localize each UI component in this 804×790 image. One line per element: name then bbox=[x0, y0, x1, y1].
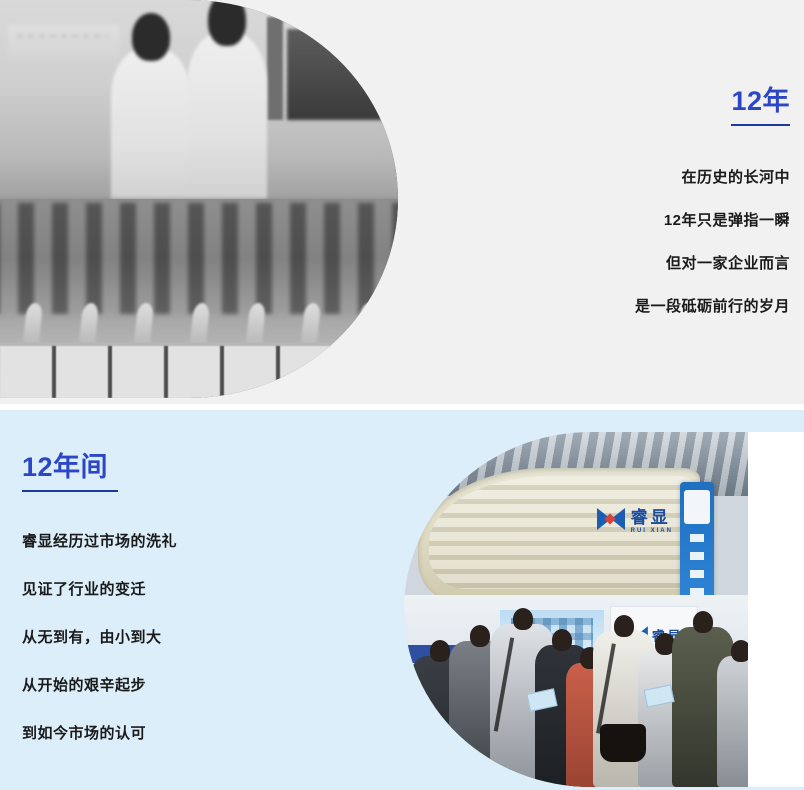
factory-part bbox=[244, 303, 266, 363]
milestones-line: 从无到有，由小到大 bbox=[22, 630, 382, 645]
booth-brand-en: RUI XIAN bbox=[631, 528, 673, 534]
section-milestones: 12年间 睿显经历过市场的洗礼 见证了行业的变迁 从无到有，由小到大 从开始的艰… bbox=[0, 410, 804, 790]
history-line: 12年只是弹指一瞬 bbox=[370, 213, 790, 228]
factory-workers-photo bbox=[0, 0, 398, 398]
worker-head bbox=[208, 0, 246, 46]
history-text-block: 12年 在历史的长河中 12年只是弹指一瞬 但对一家企业而言 是一段砥砺前行的岁… bbox=[370, 86, 790, 314]
history-line: 是一段砥砺前行的岁月 bbox=[370, 299, 790, 314]
factory-poster bbox=[8, 25, 119, 62]
milestones-lines: 睿显经历过市场的洗礼 见证了行业的变迁 从无到有，由小到大 从开始的艰辛起步 到… bbox=[22, 534, 382, 741]
milestones-heading: 12年间 bbox=[22, 452, 118, 492]
booth-logo-primary: 睿显 RUI XIAN bbox=[597, 503, 673, 534]
history-heading: 12年 bbox=[731, 86, 790, 126]
factory-worker bbox=[111, 48, 191, 207]
milestones-line: 睿显经历过市场的洗礼 bbox=[22, 534, 382, 549]
factory-part bbox=[21, 303, 43, 363]
history-line: 但对一家企业而言 bbox=[370, 256, 790, 271]
exhibition-booth-photo: 睿显 RUI XIAN 睿显 bbox=[404, 432, 748, 787]
factory-part bbox=[188, 303, 210, 363]
ruixian-logo-icon bbox=[597, 508, 627, 530]
factory-part bbox=[132, 303, 154, 363]
banner-logo-card bbox=[684, 490, 710, 524]
history-line: 在历史的长河中 bbox=[370, 170, 790, 185]
banner-text-lines bbox=[690, 534, 704, 604]
worker-head bbox=[132, 13, 170, 61]
factory-photo-content bbox=[0, 0, 398, 398]
factory-worker bbox=[187, 32, 267, 207]
booth-brand-block: 睿显 RUI XIAN bbox=[631, 503, 673, 534]
crowd-person bbox=[717, 656, 748, 787]
factory-parts-bins bbox=[0, 199, 398, 398]
milestones-line: 见证了行业的变迁 bbox=[22, 582, 382, 597]
factory-part bbox=[76, 303, 98, 363]
booth-vertical-banner bbox=[680, 482, 714, 612]
milestones-text-block: 12年间 睿显经历过市场的洗礼 见证了行业的变迁 从无到有，由小到大 从开始的艰… bbox=[22, 452, 382, 741]
section-history: 12年 在历史的长河中 12年只是弹指一瞬 但对一家企业而言 是一段砥砺前行的岁… bbox=[0, 0, 804, 404]
factory-pillar bbox=[267, 17, 283, 120]
factory-part bbox=[299, 303, 321, 363]
milestones-line: 到如今市场的认可 bbox=[22, 726, 382, 741]
page-root: 12年 在历史的长河中 12年只是弹指一瞬 但对一家企业而言 是一段砥砺前行的岁… bbox=[0, 0, 804, 790]
milestones-line: 从开始的艰辛起步 bbox=[22, 678, 382, 693]
exhibition-photo-content: 睿显 RUI XIAN 睿显 bbox=[404, 432, 748, 787]
history-lines: 在历史的长河中 12年只是弹指一瞬 但对一家企业而言 是一段砥砺前行的岁月 bbox=[370, 170, 790, 314]
crowd-handbag bbox=[600, 724, 646, 762]
right-white-gutter bbox=[748, 432, 804, 787]
exhibition-crowd bbox=[404, 610, 748, 788]
booth-brand-cn: 睿显 bbox=[631, 508, 671, 527]
